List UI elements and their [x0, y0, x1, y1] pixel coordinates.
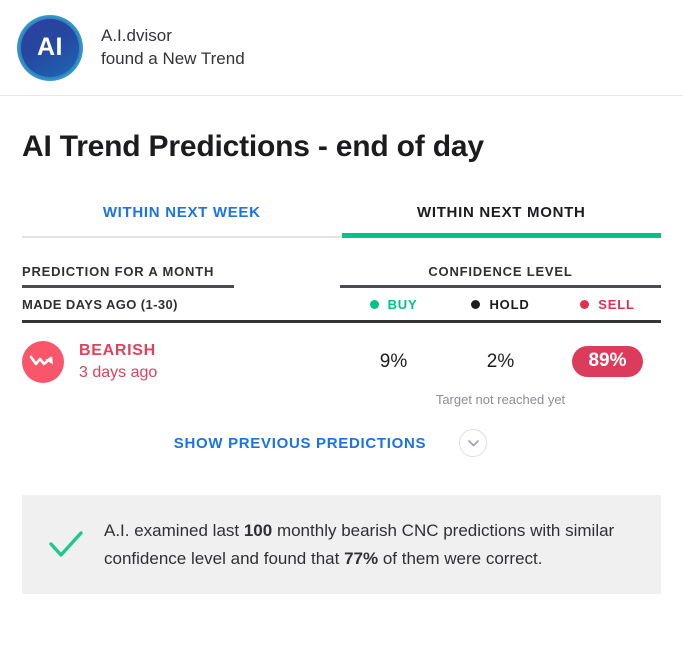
prediction-summary-cell: BEARISH 3 days ago	[22, 340, 340, 383]
table-header-top-row: PREDICTION FOR A MONTH CONFIDENCE LEVEL	[22, 264, 661, 288]
summary-bold-percent: 77%	[344, 549, 378, 568]
buy-dot-icon	[370, 300, 379, 309]
summary-bold-count: 100	[244, 521, 272, 540]
show-previous-predictions-button[interactable]: SHOW PREVIOUS PREDICTIONS	[174, 435, 427, 452]
prediction-direction: BEARISH	[79, 340, 157, 362]
prediction-labels: BEARISH 3 days ago	[79, 340, 157, 383]
brand-titles: A.I.dvisor found a New Trend	[101, 25, 245, 69]
confidence-legend: BUY HOLD SELL	[340, 297, 661, 312]
chevron-down-icon[interactable]	[459, 429, 487, 457]
summary-part-3: of them were correct.	[378, 549, 542, 568]
tab-bar: WITHIN NEXT WEEK WITHIN NEXT MONTH	[0, 204, 683, 238]
confidence-hold-value: 2%	[447, 351, 554, 373]
column-header-made-days-ago: MADE DAYS AGO (1-30)	[22, 297, 340, 312]
logo-text: AI	[37, 33, 63, 62]
table-header-bottom-row: MADE DAYS AGO (1-30) BUY HOLD SELL	[22, 288, 661, 323]
hold-dot-icon	[471, 300, 480, 309]
legend-item-sell: SELL	[554, 297, 661, 312]
tab-within-next-week[interactable]: WITHIN NEXT WEEK	[22, 204, 342, 238]
legend-item-hold: HOLD	[447, 297, 554, 312]
bearish-trend-down-icon	[22, 341, 64, 383]
summary-part-1: A.I. examined last	[104, 521, 244, 540]
confidence-sell-badge: 89%	[572, 346, 642, 377]
brand-header: AI A.I.dvisor found a New Trend	[0, 0, 683, 96]
column-header-prediction: PREDICTION FOR A MONTH	[22, 264, 234, 288]
page-title: AI Trend Predictions - end of day	[22, 130, 683, 164]
summary-text: A.I. examined last 100 monthly bearish C…	[104, 517, 635, 572]
target-status-note: Target not reached yet	[0, 392, 661, 407]
prediction-age: 3 days ago	[79, 362, 157, 384]
ai-badge-icon: AI	[17, 15, 83, 81]
check-icon	[42, 531, 90, 558]
confidence-values: 9% 2% 89%	[340, 346, 661, 377]
summary-panel: A.I. examined last 100 monthly bearish C…	[22, 495, 661, 594]
legend-label-hold: HOLD	[489, 297, 529, 312]
confidence-sell-cell: 89%	[554, 346, 661, 377]
sell-dot-icon	[580, 300, 589, 309]
legend-label-buy: BUY	[388, 297, 418, 312]
column-header-confidence: CONFIDENCE LEVEL	[340, 264, 661, 288]
table-row[interactable]: BEARISH 3 days ago 9% 2% 89%	[22, 323, 661, 383]
brand-tagline: found a New Trend	[101, 48, 245, 70]
show-previous-predictions-row: SHOW PREVIOUS PREDICTIONS	[0, 429, 683, 457]
table-header: PREDICTION FOR A MONTH CONFIDENCE LEVEL …	[22, 264, 661, 323]
legend-item-buy: BUY	[340, 297, 447, 312]
legend-label-sell: SELL	[598, 297, 634, 312]
brand-name: A.I.dvisor	[101, 25, 245, 47]
confidence-buy-value: 9%	[340, 351, 447, 373]
tab-within-next-month[interactable]: WITHIN NEXT MONTH	[342, 204, 662, 238]
